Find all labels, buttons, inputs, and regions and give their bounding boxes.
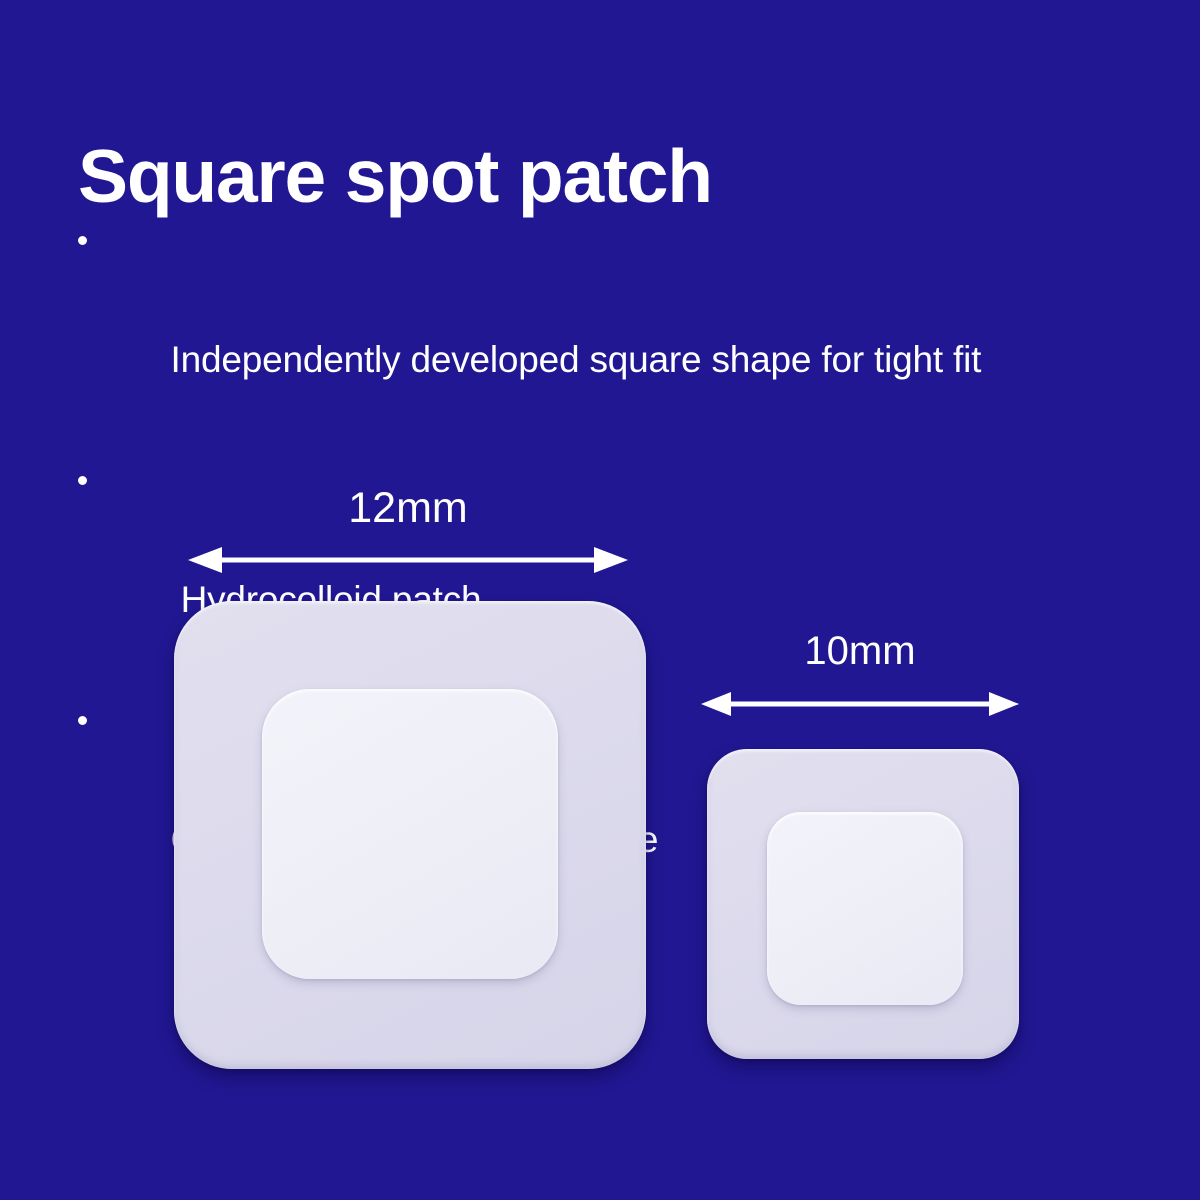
dimension-arrow-small-icon (701, 691, 1019, 717)
product-infographic: Square spot patch Independently develope… (0, 0, 1200, 1200)
dimension-label-large: 12mm (190, 484, 626, 533)
page-title: Square spot patch (78, 138, 712, 215)
large-square-spot-patch (174, 601, 646, 1069)
bullet-dot-icon (78, 716, 87, 725)
dimension-arrow-large-icon (188, 546, 628, 574)
small-patch-inner-pad (767, 812, 963, 1005)
dimension-label-small: 10mm (703, 629, 1017, 674)
list-item: Independently developed square shape for… (74, 210, 981, 450)
small-square-spot-patch (707, 749, 1019, 1059)
bullet-dot-icon (78, 476, 87, 485)
bullet-label: Independently developed square shape for… (170, 339, 981, 380)
large-patch-inner-pad (262, 689, 558, 979)
bullet-dot-icon (78, 236, 87, 245)
